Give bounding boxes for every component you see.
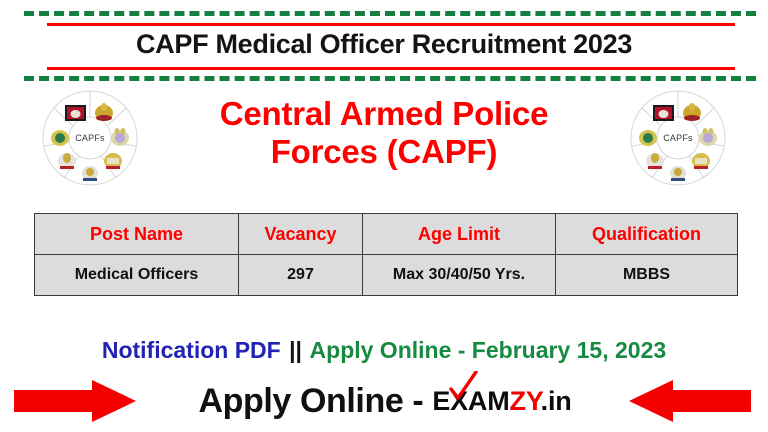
- table-header-age-limit: Age Limit: [363, 214, 556, 255]
- cell-vacancy: 297: [239, 255, 363, 296]
- examzy-brand-wordmark: EXAMZY.in: [432, 384, 571, 418]
- table-row: Medical Officers 297 Max 30/40/50 Yrs. M…: [35, 255, 738, 296]
- table-header-post-name: Post Name: [35, 214, 239, 255]
- hero-heading-line-2: Forces (CAPF): [152, 133, 616, 171]
- brand-part-zy: ZY: [510, 386, 541, 416]
- hero-heading-line-1: Central Armed Police: [152, 95, 616, 133]
- capf-emblem-wheel-svg: [626, 88, 730, 188]
- cell-qualification: MBBS: [556, 255, 738, 296]
- capf-emblem-wheel-svg: [38, 88, 142, 188]
- capf-emblem-wheel-icon-right: CAPFs: [626, 88, 730, 188]
- table-header-vacancy: Vacancy: [239, 214, 363, 255]
- cell-age-limit: Max 30/40/50 Yrs.: [363, 255, 556, 296]
- hero-heading: Central Armed Police Forces (CAPF): [152, 95, 616, 171]
- recruitment-poster: CAPF Medical Officer Recruitment 2023: [0, 0, 768, 432]
- brand-part-exam: EXAM: [432, 386, 509, 416]
- apply-online-link[interactable]: Apply Online - February 15, 2023: [310, 337, 667, 363]
- links-line: Notification PDF || Apply Online - Febru…: [0, 337, 768, 364]
- capf-emblem-wheel-icon-left: CAPFs: [38, 88, 142, 188]
- cta-text-group: Apply Online - EXAMZY.in: [150, 374, 620, 428]
- bottom-red-divider: [47, 67, 735, 70]
- top-red-divider: [47, 23, 735, 26]
- links-separator: ||: [287, 337, 304, 363]
- notification-pdf-link[interactable]: Notification PDF: [102, 337, 281, 363]
- top-dashed-divider: [24, 11, 756, 16]
- recruitment-details-table: Post Name Vacancy Age Limit Qualificatio…: [34, 213, 738, 296]
- arrow-right-icon: [14, 379, 136, 423]
- brand-part-tld: .in: [541, 386, 572, 416]
- cta-label: Apply Online -: [198, 382, 423, 421]
- arrow-right-icon-svg: [14, 379, 136, 423]
- table-header-qualification: Qualification: [556, 214, 738, 255]
- table-header-row: Post Name Vacancy Age Limit Qualificatio…: [35, 214, 738, 255]
- arrow-left-icon: [629, 379, 751, 423]
- call-to-action-row: Apply Online - EXAMZY.in: [0, 374, 768, 428]
- bottom-dashed-divider: [24, 76, 756, 81]
- cell-post-name: Medical Officers: [35, 255, 239, 296]
- page-title: CAPF Medical Officer Recruitment 2023: [0, 29, 768, 60]
- arrow-left-icon-svg: [629, 379, 751, 423]
